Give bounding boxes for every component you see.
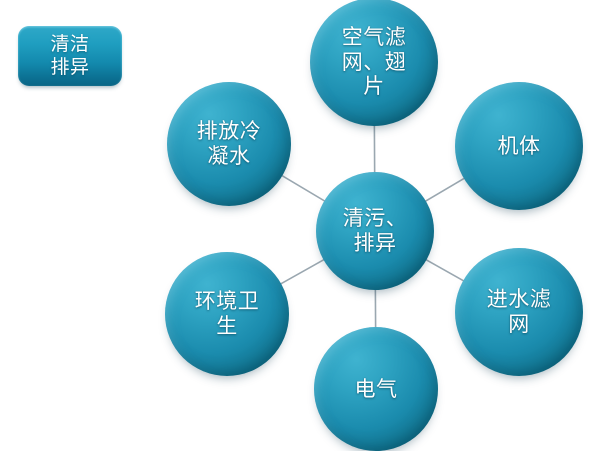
diagram-node-center-label: 清污、 排异: [337, 206, 414, 256]
diagram-node-upper-right[interactable]: 机体: [455, 82, 583, 210]
diagram-node-top-label: 空气滤 网、翅 片: [336, 25, 413, 99]
diagram-node-bottom-label: 电气: [349, 377, 404, 402]
diagram-node-upper-right-label: 机体: [492, 134, 547, 159]
diagram-canvas: 清洁 排异 空气滤 网、翅 片 机体 进水滤 网 电气 环境卫 生 排放冷 凝水…: [0, 0, 600, 448]
diagram-node-lower-right-label: 进水滤 网: [481, 287, 558, 337]
diagram-node-lower-right[interactable]: 进水滤 网: [455, 248, 583, 376]
diagram-node-upper-left[interactable]: 排放冷 凝水: [167, 82, 291, 206]
diagram-node-lower-left[interactable]: 环境卫 生: [165, 252, 289, 376]
diagram-node-upper-left-label: 排放冷 凝水: [191, 119, 268, 169]
title-badge: 清洁 排异: [18, 26, 122, 86]
diagram-node-lower-left-label: 环境卫 生: [189, 289, 266, 339]
diagram-node-top[interactable]: 空气滤 网、翅 片: [310, 0, 438, 126]
diagram-node-bottom[interactable]: 电气: [314, 327, 438, 451]
diagram-node-center[interactable]: 清污、 排异: [316, 172, 434, 290]
title-badge-label: 清洁 排异: [50, 33, 89, 79]
